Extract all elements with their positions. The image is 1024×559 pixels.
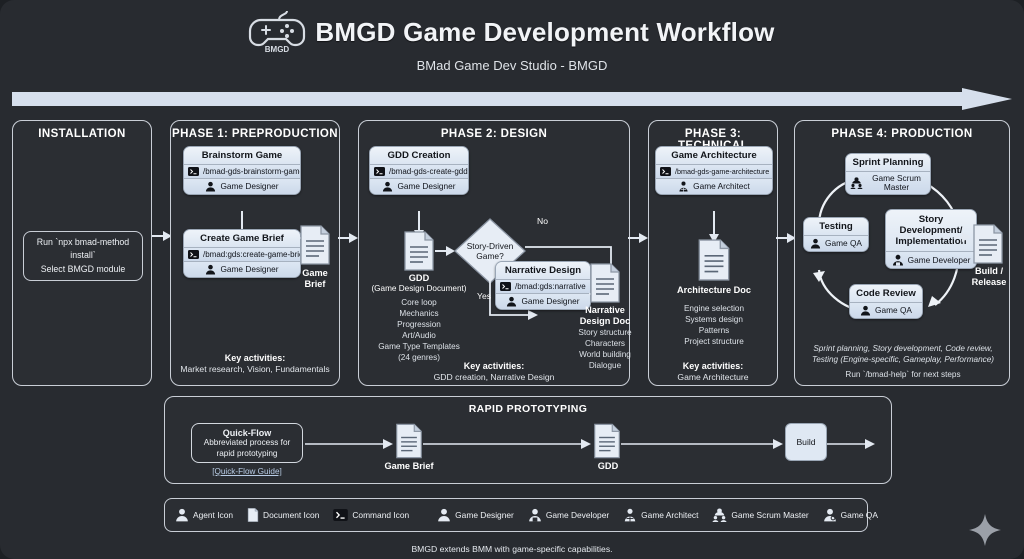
- narrative-label-line-1: Narrative: [565, 305, 645, 316]
- decision-label-line-2: Game?: [476, 251, 504, 261]
- panel-title-phase2: PHASE 2: DESIGN: [359, 128, 629, 140]
- node-command-row[interactable]: /bmad:gds:create-game-brief: [184, 248, 300, 261]
- phase4-footer-note: Run `/bmad-help` for next steps: [799, 369, 1007, 380]
- command-icon: [660, 167, 671, 176]
- scrum-master-icon: [712, 508, 727, 522]
- command-icon: [374, 167, 385, 176]
- doc-label-line-1: Game: [290, 268, 340, 279]
- doc-label-architecture: Architecture Doc: [654, 285, 774, 296]
- qa-icon: [860, 305, 871, 316]
- build-label-line-2: Release: [960, 277, 1018, 288]
- command-icon: [333, 509, 348, 521]
- node-command: /bmad-gds-brainstorm-game: [203, 167, 301, 176]
- node-agent-row: Game QA: [850, 303, 922, 318]
- legend-item-game-scrum-master: Game Scrum Master: [712, 508, 808, 522]
- arch-note: Systems design: [654, 314, 774, 325]
- header: BMGD BMGD Game Development Workflow: [0, 8, 1024, 56]
- key-activities-heading: Key activities:: [363, 361, 625, 372]
- architect-icon: [678, 181, 689, 192]
- node-title: Testing: [804, 218, 868, 235]
- document-icon-build-release: [972, 224, 1004, 264]
- node-title: Brainstorm Game: [184, 147, 300, 164]
- document-icon-gdd: [403, 231, 435, 271]
- node-code-review[interactable]: Code Review Game QA: [849, 284, 923, 319]
- decision-label-yes: Yes: [477, 291, 491, 301]
- quick-flow-subtitle-line-1: Abbreviated process for: [197, 438, 297, 449]
- node-command: /bmad:gds:narrative: [515, 282, 586, 291]
- key-activities-body: Game Architecture: [653, 372, 773, 383]
- legend-label: Game QA: [841, 510, 878, 520]
- document-icon-narrative: [589, 263, 621, 303]
- phase4-note: Sprint planning, Story development, Code…: [799, 343, 1007, 354]
- legend-item-agent-icon: Agent Icon: [175, 508, 233, 522]
- rapid-prototyping-title: RAPID PROTOTYPING: [165, 403, 891, 415]
- narrative-note: Characters: [559, 338, 651, 349]
- rapid-step-label-build: Build: [796, 437, 815, 447]
- quick-flow-guide-link[interactable]: [Quick-Flow Guide]: [191, 467, 303, 476]
- legend-label: Game Architect: [641, 510, 698, 520]
- panel-rapid-prototyping: RAPID PROTOTYPING Quick-Flow Abbreviated…: [164, 396, 892, 484]
- node-brainstorm-game[interactable]: Brainstorm Game /bmad-gds-brainstorm-gam…: [183, 146, 301, 195]
- connector-gamebrief-gdd: [423, 437, 595, 451]
- node-agent-row: Game Architect: [656, 179, 772, 194]
- gdd-sublabel: (Game Design Document): [364, 284, 474, 294]
- arch-note: Engine selection: [654, 303, 774, 314]
- document-icon-architecture: [697, 239, 731, 281]
- node-title: Game Architecture: [656, 147, 772, 164]
- quick-flow-subtitle-line-2: rapid prototyping: [197, 449, 297, 460]
- sparkle-icon: [968, 513, 1002, 547]
- build-label-line-1: Build /: [960, 266, 1018, 277]
- key-activities-heading: Key activities:: [175, 353, 335, 364]
- command-icon: [188, 250, 199, 259]
- key-activities-body: Market research, Vision, Fundamentals: [175, 364, 335, 375]
- legend-label: Game Designer: [455, 510, 514, 520]
- legend-label: Command Icon: [352, 510, 409, 520]
- node-narrative-design[interactable]: Narrative Design /bmad:gds:narrative Gam…: [495, 261, 591, 310]
- install-command-box: Run `npx bmad-method install` Select BMG…: [23, 231, 143, 281]
- panel-phase2: PHASE 2: DESIGN GDD Creation /bmad-gds-c…: [358, 120, 630, 386]
- decision-label-no: No: [537, 216, 548, 226]
- panel-title-phase4: PHASE 4: PRODUCTION: [795, 128, 1009, 140]
- node-agent: Game Designer: [220, 265, 278, 274]
- arch-note: Project structure: [654, 336, 774, 347]
- key-activities-phase3: Key activities: Game Architecture: [653, 361, 773, 383]
- architecture-notes: Engine selection Systems design Patterns…: [654, 303, 774, 347]
- gamepad-icon: BMGD: [249, 8, 305, 56]
- node-command: /bmad:gds:create-game-brief: [203, 250, 301, 259]
- node-command-row[interactable]: /bmad-gds-create-gdd: [370, 165, 468, 178]
- workflow-diagram: BMGD BMGD Game Development Workflow BMad…: [0, 0, 1024, 559]
- agent-icon: [506, 296, 517, 307]
- node-agent: Game QA: [875, 306, 912, 315]
- node-agent-row: Game Scrum Master: [846, 172, 930, 194]
- legend-bar: Agent Icon Document Icon Command Icon: [164, 498, 868, 532]
- gdd-note: Progression: [364, 319, 474, 330]
- agent-icon: [205, 181, 216, 192]
- node-agent-row: Game Designer: [184, 179, 300, 194]
- node-sprint-planning[interactable]: Sprint Planning Game Scrum Master: [845, 153, 931, 195]
- agent-icon: [382, 181, 393, 192]
- narrative-note: World building: [559, 349, 651, 360]
- install-line-1: Run `npx bmad-method install`: [24, 236, 142, 262]
- key-activities-phase2: Key activities: GDD creation, Narrative …: [363, 361, 625, 383]
- rapid-step-label-game-brief: Game Brief: [371, 461, 447, 472]
- legend-label: Game Scrum Master: [731, 510, 808, 520]
- agent-icon: [205, 264, 216, 275]
- legend-label: Document Icon: [263, 510, 319, 520]
- gdd-note: Core loop: [364, 297, 474, 308]
- panel-title-installation: INSTALLATION: [13, 128, 151, 140]
- phase4-notes: Sprint planning, Story development, Code…: [799, 343, 1007, 365]
- agent-icon: [175, 508, 189, 522]
- document-icon-game-brief: [299, 225, 331, 265]
- phase4-note: Testing (Engine-specific, Gameplay, Perf…: [799, 354, 1007, 365]
- doc-label-game-brief: GameBrief: [290, 268, 340, 290]
- command-icon: [188, 167, 199, 176]
- designer-icon: [437, 508, 451, 522]
- node-agent: Game Architect: [693, 182, 750, 191]
- node-gdd-creation[interactable]: GDD Creation /bmad-gds-create-gdd Game D…: [369, 146, 469, 195]
- connector-build-end: [827, 437, 879, 451]
- doc-label-build-release: Build /Release: [960, 266, 1018, 288]
- key-activities-heading: Key activities:: [653, 361, 773, 372]
- node-title: Code Review: [850, 285, 922, 302]
- node-command-row[interactable]: /bmad:gds:narrative: [496, 280, 590, 293]
- rapid-step-label-gdd: GDD: [573, 461, 643, 472]
- legend-label: Game Developer: [546, 510, 609, 520]
- quick-flow-title: Quick-Flow: [197, 428, 297, 438]
- node-title: Narrative Design: [496, 262, 590, 279]
- gdd-note: Mechanics: [364, 308, 474, 319]
- node-create-game-brief[interactable]: Create Game Brief /bmad:gds:create-game-…: [183, 229, 301, 278]
- connector-story-build: [955, 230, 973, 244]
- footer-note: BMGD extends BMM with game-specific capa…: [0, 544, 1024, 554]
- node-agent: Game Scrum Master: [867, 174, 926, 192]
- node-title: GDD Creation: [370, 147, 468, 164]
- connector-phase2-phase3: [628, 231, 650, 245]
- node-agent: Game QA: [825, 239, 862, 248]
- page-title: BMGD Game Development Workflow: [315, 17, 774, 48]
- narrative-label-line-2: Design Doc: [565, 316, 645, 327]
- node-title: Create Game Brief: [184, 230, 300, 247]
- legend-item-game-qa: Game QA: [823, 508, 878, 522]
- rapid-step-build-box[interactable]: Build: [785, 423, 827, 461]
- node-agent: Game Developer: [908, 256, 971, 265]
- gdd-notes: Core loop Mechanics Progression Art/Audi…: [364, 297, 474, 363]
- developer-icon: [528, 508, 542, 522]
- logo-text: BMGD: [265, 45, 290, 54]
- document-icon-rapid-gdd: [593, 423, 621, 459]
- node-command: /bmad-gds-game-architecture: [675, 167, 769, 176]
- decision-label-line-1: Story-Driven: [467, 241, 514, 251]
- node-game-architecture[interactable]: Game Architecture /bmad-gds-game-archite…: [655, 146, 773, 195]
- connector-phase1-phase2: [338, 231, 360, 245]
- legend-item-document-icon: Document Icon: [247, 508, 319, 522]
- quick-flow-box[interactable]: Quick-Flow Abbreviated process for rapid…: [191, 423, 303, 463]
- legend-label: Agent Icon: [193, 510, 233, 520]
- node-title-line-1: Story: [888, 214, 974, 225]
- key-activities-body: GDD creation, Narrative Design: [363, 372, 625, 383]
- master-flow-arrow: [12, 88, 1012, 110]
- panel-title-phase1: PHASE 1: PREPRODUCTION: [171, 128, 339, 140]
- doc-label-line-2: Brief: [290, 279, 340, 290]
- node-agent-row: Game QA: [804, 236, 868, 251]
- document-icon: [247, 508, 259, 522]
- legend-item-game-architect: Game Architect: [623, 508, 698, 522]
- legend-item-game-developer: Game Developer: [528, 508, 609, 522]
- node-command: /bmad-gds-create-gdd: [389, 167, 468, 176]
- install-line-2: Select BMGD module: [41, 263, 126, 276]
- architect-icon: [623, 508, 637, 522]
- connector-quickflow-gamebrief: [305, 437, 397, 451]
- node-command-row[interactable]: /bmad-gds-game-architecture: [656, 165, 772, 178]
- node-title: Sprint Planning: [846, 154, 930, 171]
- command-icon: [500, 282, 511, 291]
- gdd-note: Game Type Templates: [364, 341, 474, 352]
- node-testing[interactable]: Testing Game QA: [803, 217, 869, 252]
- node-agent: Game Designer: [397, 182, 455, 191]
- connector-gdd-build: [621, 437, 787, 451]
- quick-flow-subtitle: Abbreviated process for rapid prototypin…: [197, 438, 297, 459]
- key-activities-phase1: Key activities: Market research, Vision,…: [175, 353, 335, 375]
- node-agent-row: Game Designer: [184, 262, 300, 277]
- node-command-row[interactable]: /bmad-gds-brainstorm-game: [184, 165, 300, 178]
- node-agent-row: Game Designer: [370, 179, 468, 194]
- scrum-master-icon: [850, 177, 863, 189]
- panel-phase3: PHASE 3: TECHNICAL Game Architecture /bm…: [648, 120, 778, 386]
- legend-item-game-designer: Game Designer: [437, 508, 514, 522]
- gdd-note: Art/Audio: [364, 330, 474, 341]
- legend-item-command-icon: Command Icon: [333, 509, 409, 521]
- document-icon-rapid-game-brief: [395, 423, 423, 459]
- doc-label-narrative: Narrative Design Doc: [565, 305, 645, 327]
- panel-installation: INSTALLATION Run `npx bmad-method instal…: [12, 120, 152, 386]
- page-subtitle: BMad Game Dev Studio - BMGD: [0, 58, 1024, 73]
- developer-icon: [892, 254, 904, 266]
- qa-icon: [823, 508, 837, 522]
- arch-note: Patterns: [654, 325, 774, 336]
- node-agent: Game Designer: [220, 182, 278, 191]
- qa-icon: [810, 238, 821, 249]
- narrative-note: Story structure: [559, 327, 651, 338]
